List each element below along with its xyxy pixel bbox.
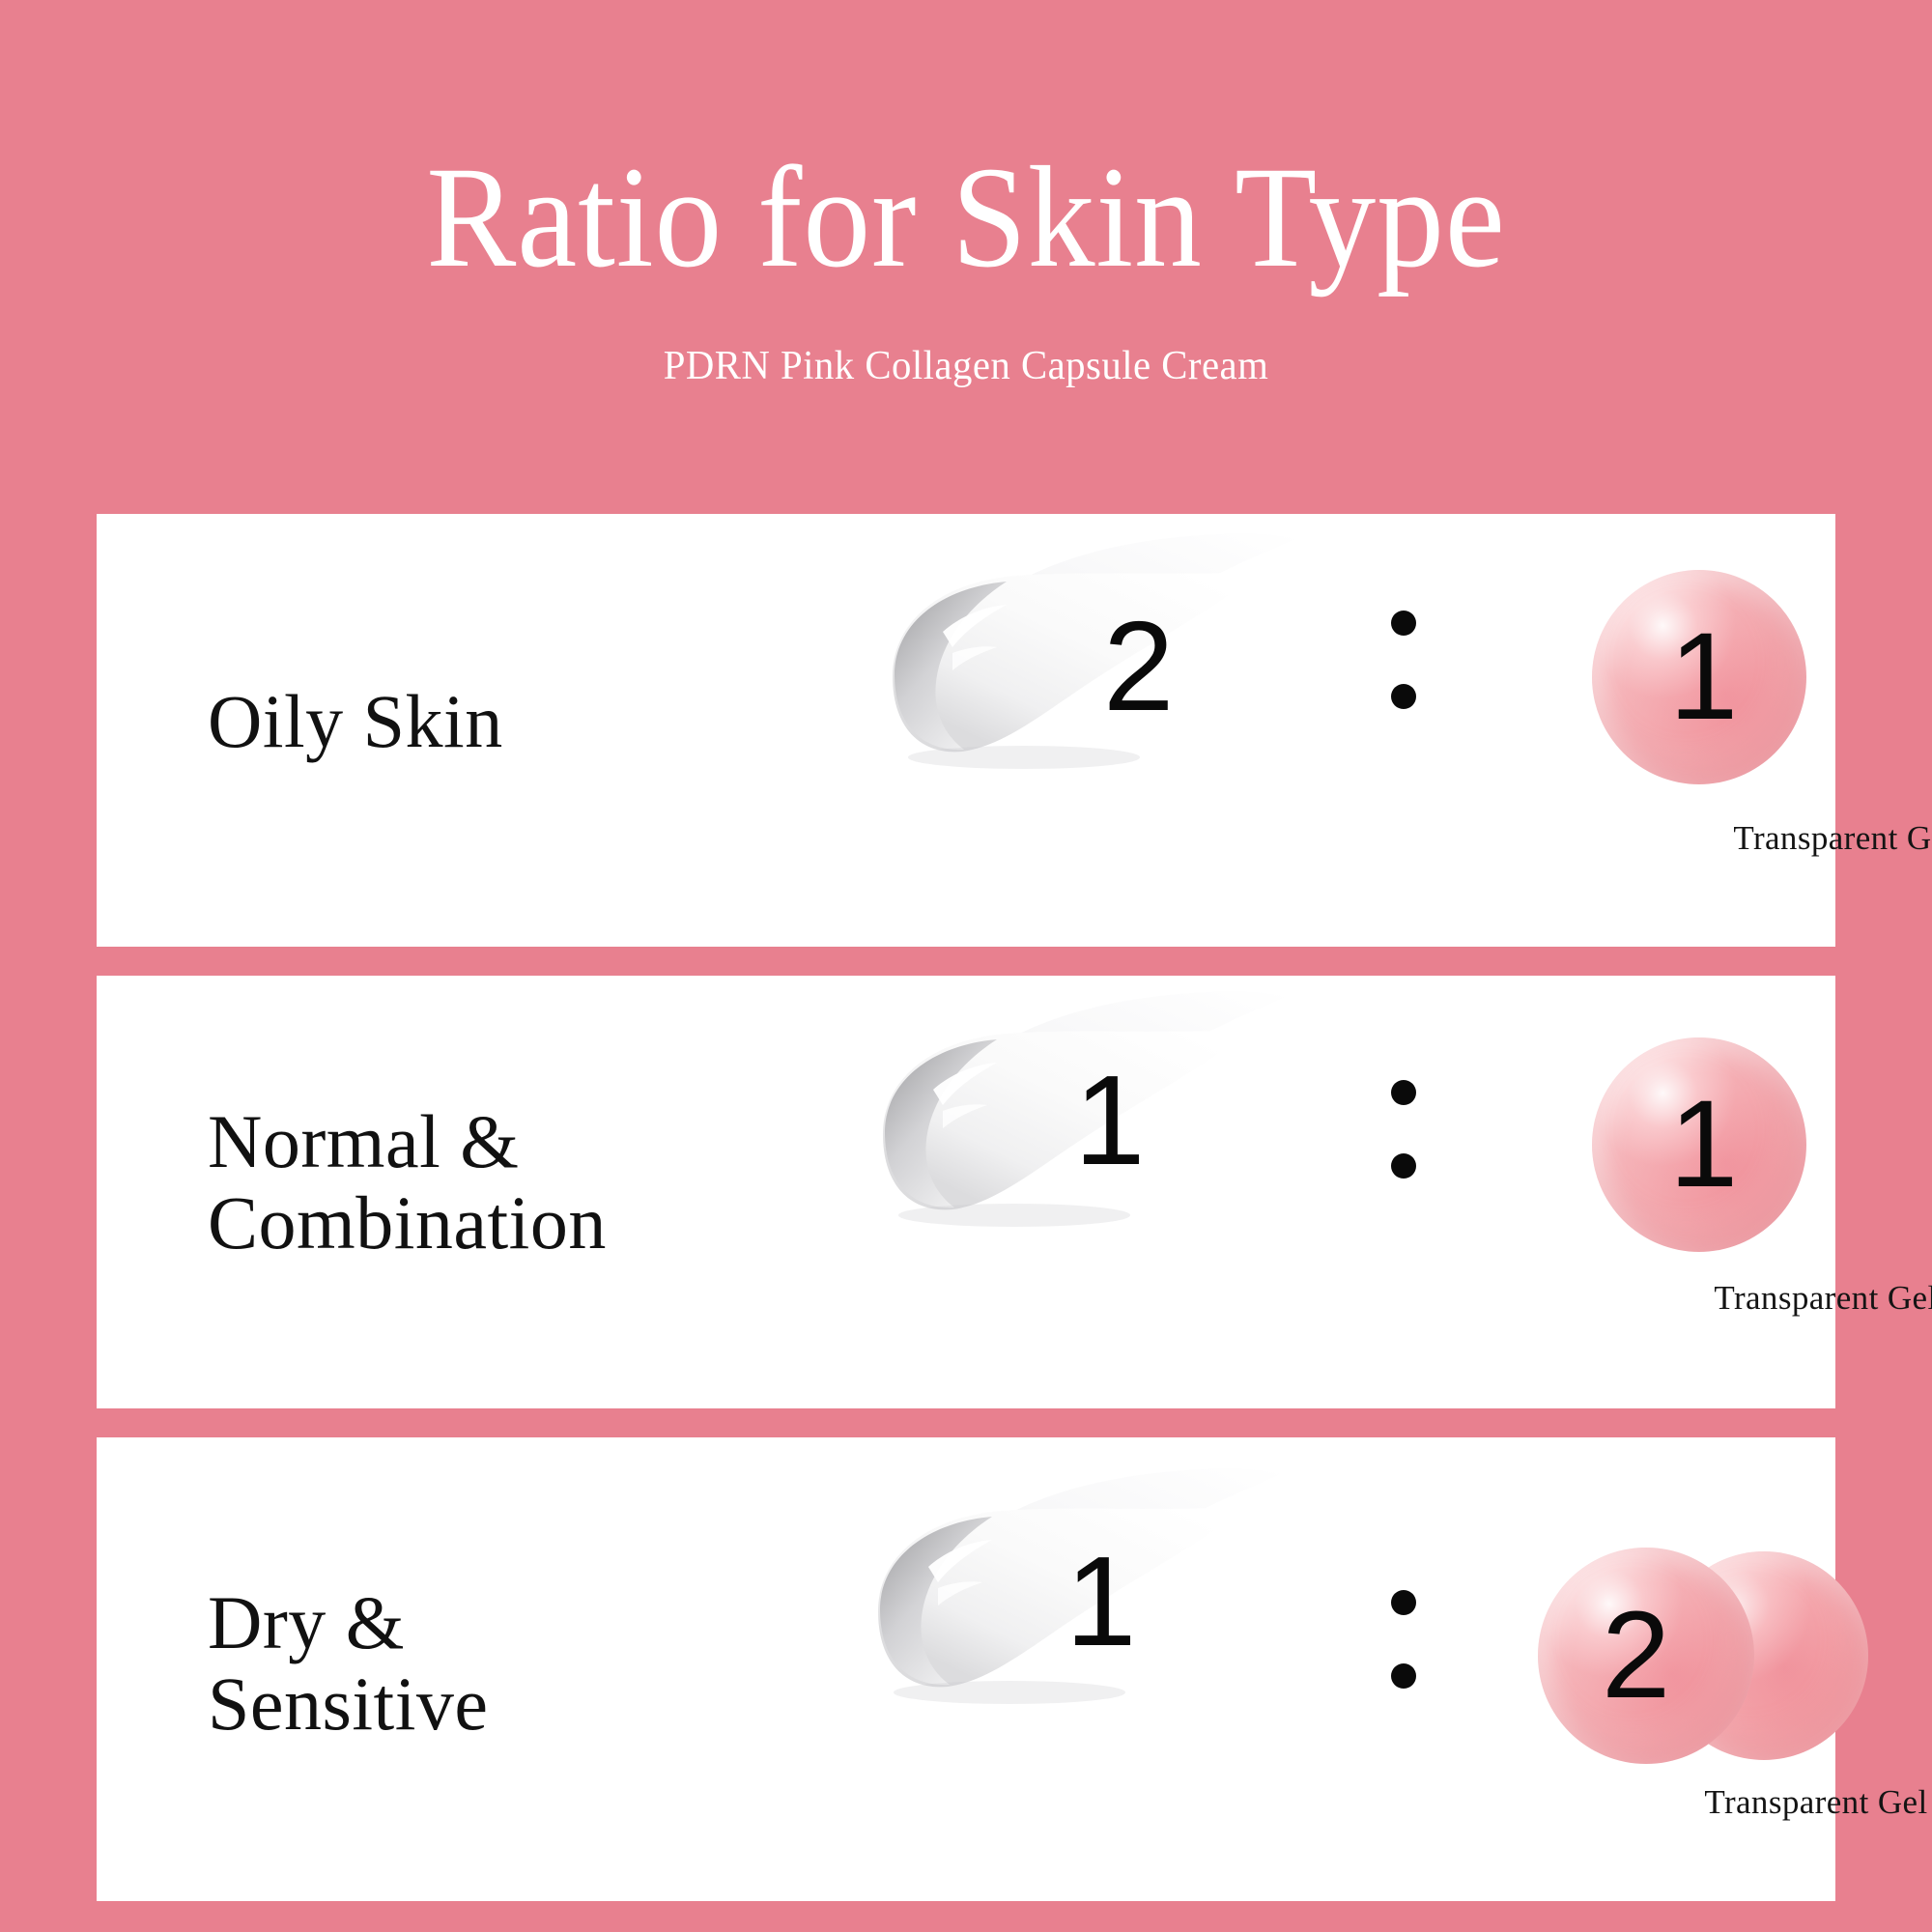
pink-capsule-sphere-icon: 2 xyxy=(1517,1544,1884,1781)
gel-amount-number: 1 xyxy=(1065,1538,1136,1665)
pink-capsule-sphere-icon: 1 xyxy=(1546,1032,1874,1260)
skin-type-label: Oily Skin xyxy=(208,681,503,762)
infographic-page: Ratio for Skin Type PDRN Pink Collagen C… xyxy=(0,0,1932,1932)
ratio-card-list: Oily Skin xyxy=(97,514,1835,1930)
ratio-card-oily-skin: Oily Skin xyxy=(97,514,1835,947)
gel-amount-group: 1 Transparent Gel xyxy=(845,1466,1290,1727)
skin-type-label: Dry & Sensitive xyxy=(208,1582,489,1745)
transparent-gel-swatch-icon: 2 xyxy=(860,531,1304,792)
capsule-amount-number: 2 xyxy=(1602,1594,1670,1718)
ratio-card-dry-sensitive: Dry & Sensitive xyxy=(97,1437,1835,1901)
gel-amount-number: 2 xyxy=(1103,603,1174,730)
gel-amount-group: 1 Transparent Gel xyxy=(850,989,1294,1250)
skin-type-label: Normal & Combination xyxy=(208,1101,607,1264)
separator-dot-icon xyxy=(1391,1590,1416,1615)
separator-dot-icon xyxy=(1391,1080,1416,1105)
separator-dot-icon xyxy=(1391,611,1416,636)
transparent-gel-swatch-icon: 1 xyxy=(850,989,1294,1250)
separator-dot-icon xyxy=(1391,1663,1416,1689)
gel-caption: Transparent Gel xyxy=(1623,821,1932,855)
gel-caption: Transparent Gel xyxy=(1594,1785,1932,1819)
page-title: Ratio for Skin Type xyxy=(68,145,1864,290)
capsule-amount-group: 2 PDRN Capsule xyxy=(1517,1544,1884,1781)
ratio-separator xyxy=(1391,611,1420,709)
capsule-amount-number: 1 xyxy=(1669,1083,1738,1207)
header: Ratio for Skin Type PDRN Pink Collagen C… xyxy=(0,0,1932,406)
capsule-amount-group: 1 PDRN Capsule xyxy=(1546,1032,1874,1260)
gel-amount-number: 1 xyxy=(1074,1057,1145,1184)
gel-amount-group: 2 Transparent Gel xyxy=(860,531,1304,792)
separator-dot-icon xyxy=(1391,1153,1416,1179)
capsule-amount-number: 1 xyxy=(1669,615,1738,739)
ratio-separator xyxy=(1391,1590,1420,1689)
separator-dot-icon xyxy=(1391,684,1416,709)
transparent-gel-swatch-icon: 1 xyxy=(845,1466,1290,1727)
capsule-amount-group: 1 PDRN Capsule xyxy=(1546,562,1874,790)
ratio-card-normal-combination: Normal & Combination xyxy=(97,976,1835,1408)
pink-capsule-sphere-icon: 1 xyxy=(1546,562,1874,790)
ratio-separator xyxy=(1391,1080,1420,1179)
page-subtitle: PDRN Pink Collagen Capsule Cream xyxy=(29,346,1903,386)
gel-caption: Transparent Gel xyxy=(1604,1281,1932,1315)
